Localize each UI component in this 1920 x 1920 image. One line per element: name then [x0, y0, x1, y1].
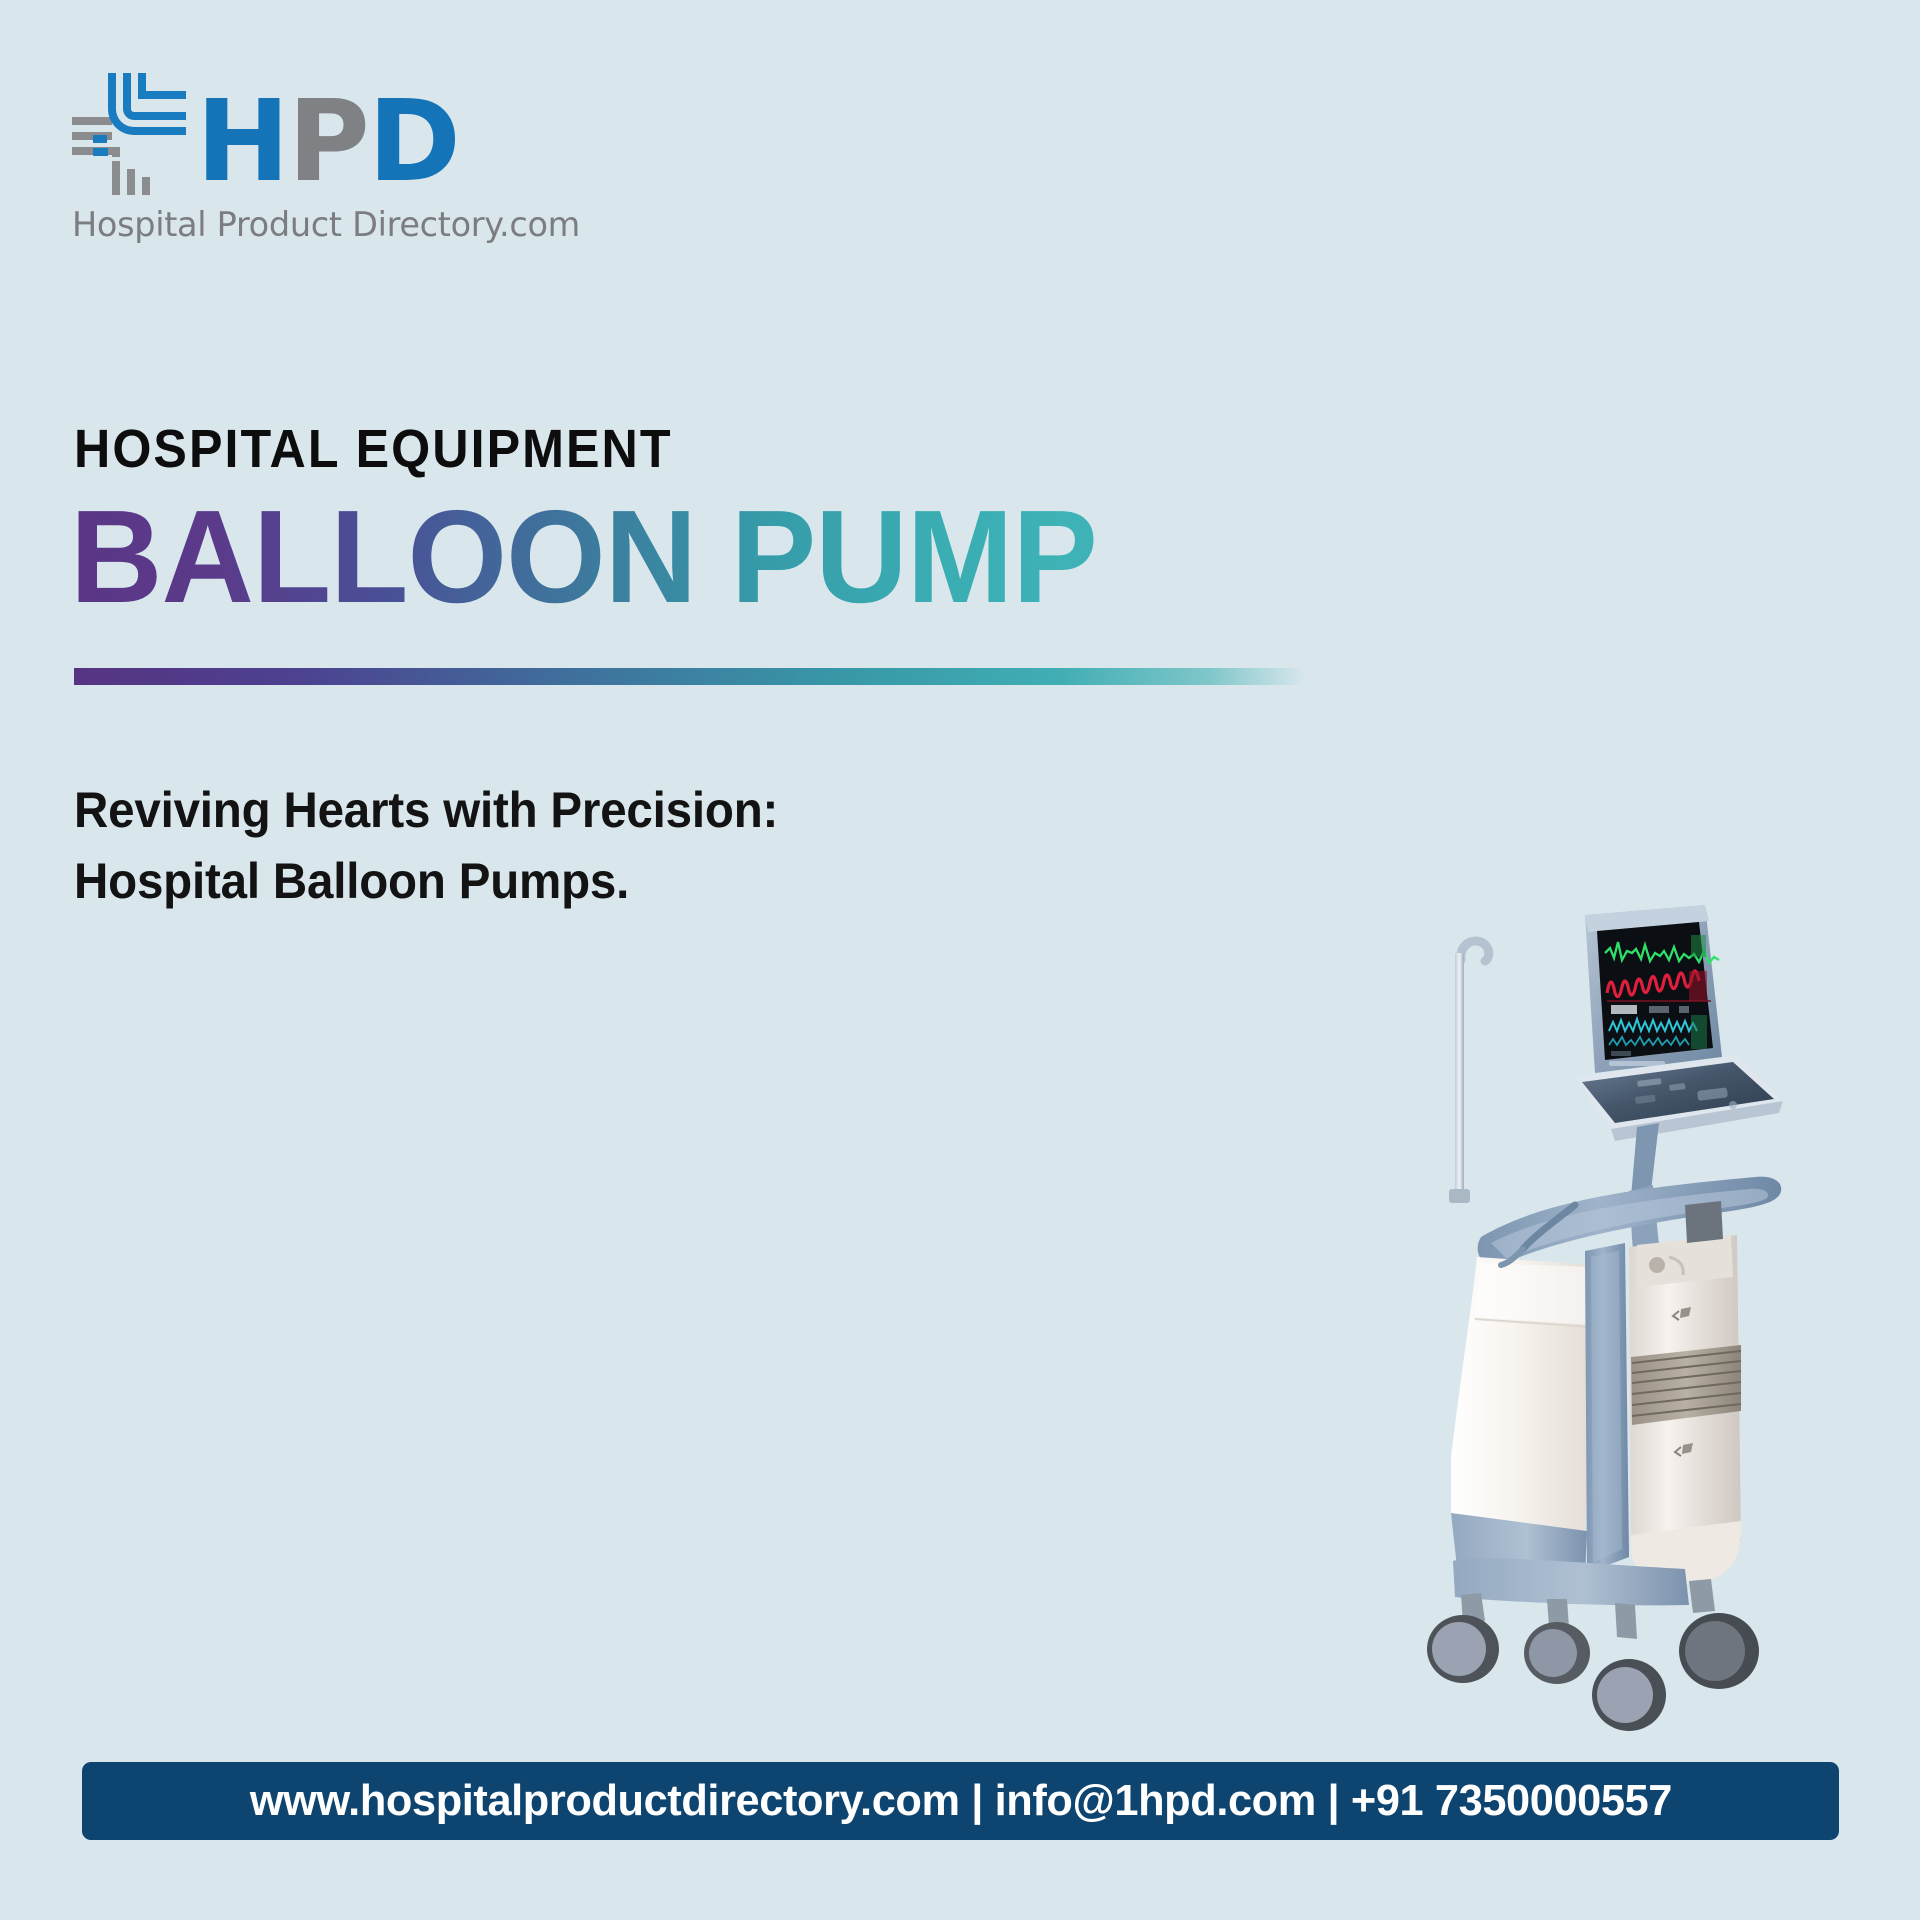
wheel-base	[1427, 1558, 1759, 1731]
caster-wheel	[1679, 1613, 1759, 1689]
logo-letter-d: D	[368, 89, 459, 195]
page-title: BALLOON PUMP	[70, 488, 1097, 627]
footer-contact-bar[interactable]: www.hospitalproductdirectory.com | info@…	[82, 1762, 1839, 1840]
title-underline-rule	[74, 668, 1306, 685]
hpd-logo-mark-icon	[72, 73, 190, 195]
caster-wheel	[1524, 1622, 1590, 1684]
console-body	[1451, 1201, 1741, 1583]
subtitle-line-1: Reviving Hearts with Precision:	[74, 782, 778, 838]
subtitle-text: Reviving Hearts with Precision: Hospital…	[74, 775, 778, 917]
caster-wheel	[1427, 1615, 1499, 1683]
logo-letter-h: H	[196, 89, 288, 195]
product-image-balloon-pump	[1285, 905, 1845, 1765]
logo-tagline: Hospital Product Directory.com	[72, 205, 572, 244]
poster-canvas: HPD Hospital Product Directory.com HOSPI…	[0, 0, 1920, 1920]
monitor	[1585, 905, 1722, 1073]
footer-contact-text: www.hospitalproductdirectory.com | info@…	[249, 1776, 1671, 1826]
brand-logo[interactable]: HPD Hospital Product Directory.com	[72, 70, 572, 250]
logo-letter-p: P	[288, 89, 368, 195]
subtitle-line-2: Hospital Balloon Pumps.	[74, 846, 778, 917]
logo-wordmark: HPD	[196, 73, 459, 195]
iv-pole	[1449, 941, 1489, 1203]
logo-row: HPD	[72, 70, 572, 195]
vent-band	[1631, 1345, 1741, 1425]
kicker-text: HOSPITAL EQUIPMENT	[74, 418, 673, 480]
caster-wheel	[1592, 1659, 1666, 1731]
